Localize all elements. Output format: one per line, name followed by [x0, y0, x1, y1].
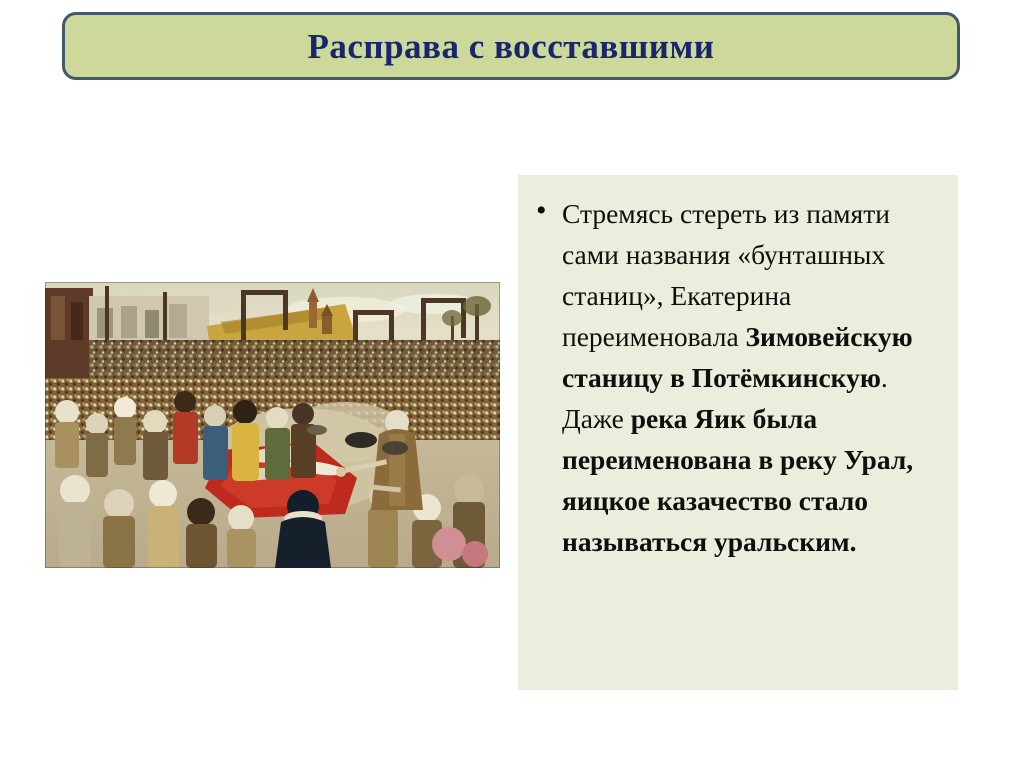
body-paragraph: Стремясь стереть из памяти сами названия…	[562, 193, 944, 562]
slide-title-banner: Расправа с восставшими	[62, 12, 960, 80]
content-panel: • Стремясь стереть из памяти сами назван…	[518, 175, 958, 690]
painting-canvas	[45, 282, 500, 568]
painting-execution-of-pugachev	[45, 282, 500, 568]
bullet-list-item: • Стремясь стереть из памяти сами назван…	[532, 193, 944, 562]
page-title: Расправа с восставшими	[308, 29, 715, 64]
bullet-point-icon: •	[532, 193, 562, 229]
